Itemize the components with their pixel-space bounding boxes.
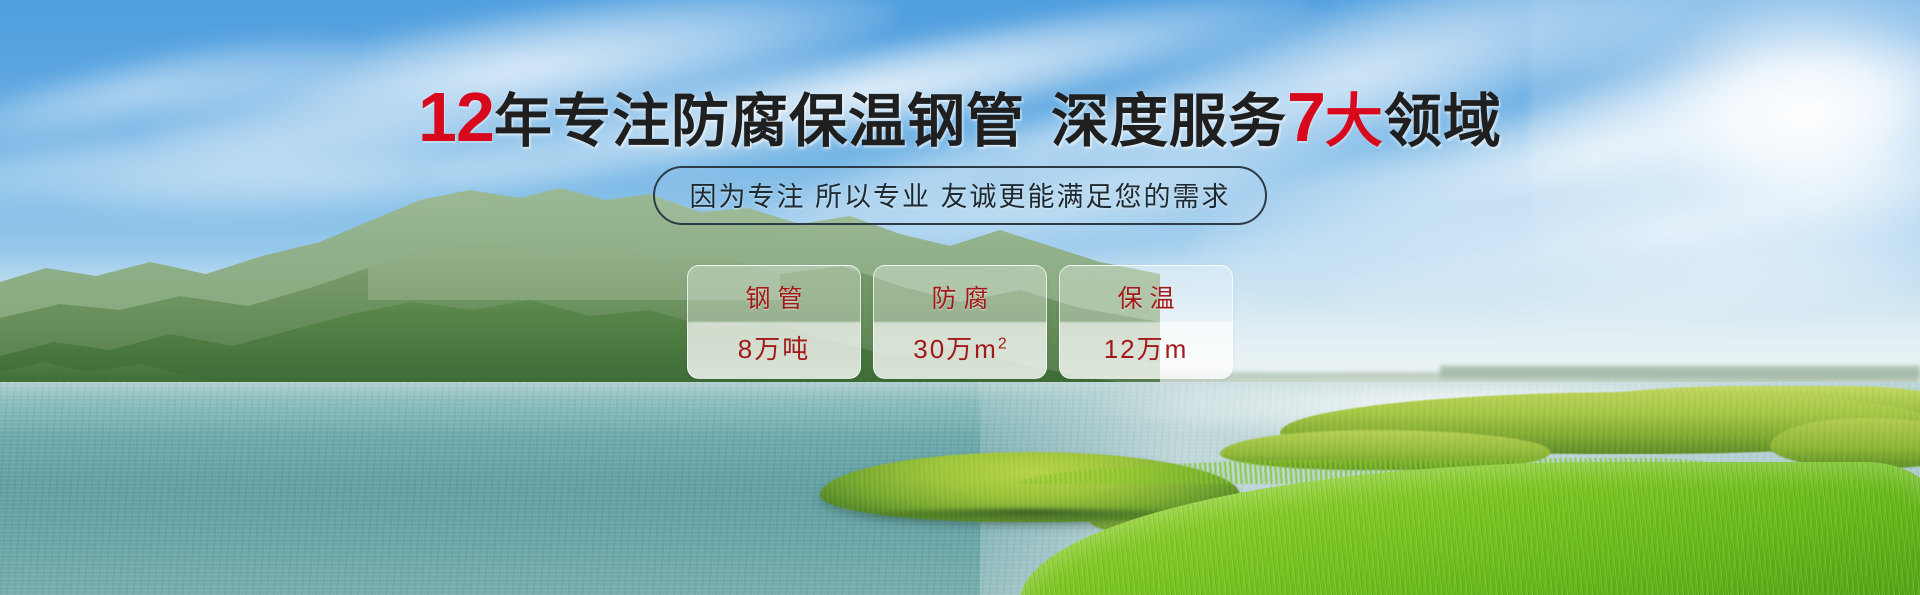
- headline-segment-3: 领域: [1384, 89, 1502, 154]
- headline-highlight-number: 7: [1287, 78, 1325, 156]
- stat-card-value: 8万吨: [738, 329, 810, 366]
- stat-card-steel-pipe[interactable]: 钢管 8万吨: [687, 265, 861, 379]
- headline-highlight-unit: 大: [1325, 89, 1384, 154]
- hero-banner: 12年专注防腐保温钢管深度服务7大领域 因为专注 所以专业 友诚更能满足您的需求…: [0, 0, 1920, 595]
- banner-subtitle-wrap: 因为专注 所以专业 友诚更能满足您的需求: [0, 166, 1920, 225]
- stat-card-list: 钢管 8万吨 防腐 30万m2 保温 12万m: [0, 265, 1920, 379]
- headline-years-number: 12: [418, 78, 494, 156]
- headline-segment-1: 专注防腐保温钢管: [553, 89, 1025, 154]
- banner-subtitle-pill: 因为专注 所以专业 友诚更能满足您的需求: [653, 166, 1266, 225]
- stat-card-title: 保温: [1110, 279, 1181, 315]
- stat-card-value: 12万m: [1104, 329, 1189, 366]
- stat-card-title: 防腐: [924, 279, 995, 315]
- stat-card-value-main: 12万m: [1104, 334, 1189, 364]
- stat-card-anticorrosion[interactable]: 防腐 30万m2: [873, 265, 1047, 379]
- headline-segment-2: 深度服务: [1051, 89, 1287, 154]
- stat-card-value: 30万m2: [913, 329, 1007, 366]
- stat-card-value-superscript: 2: [998, 335, 1007, 352]
- stat-card-value-main: 8万吨: [738, 334, 810, 364]
- headline-years-unit: 年: [494, 89, 553, 154]
- stat-card-title: 钢管: [738, 279, 809, 315]
- stat-card-insulation[interactable]: 保温 12万m: [1059, 265, 1233, 379]
- stat-card-value-main: 30万m: [913, 334, 998, 364]
- banner-headline: 12年专注防腐保温钢管深度服务7大领域: [0, 82, 1920, 152]
